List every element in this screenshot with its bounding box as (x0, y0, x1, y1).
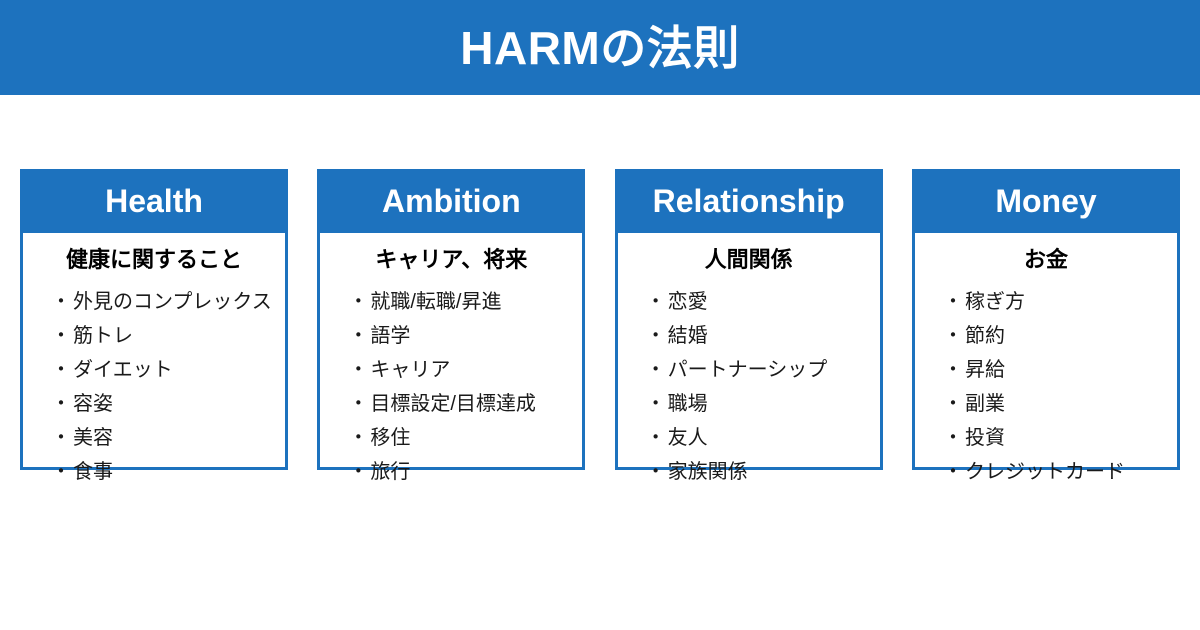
list-item: ・家族関係 (646, 455, 880, 489)
bullet-icon: ・ (646, 421, 666, 455)
list-item: ・キャリア (348, 353, 582, 387)
bullet-icon: ・ (943, 353, 963, 387)
list-item-label: 投資 (965, 421, 1005, 455)
bullet-icon: ・ (51, 455, 71, 489)
card-relationship: Relationship 人間関係 ・恋愛 ・結婚 ・パートナーシップ ・職場 … (615, 169, 883, 470)
list-item-label: 旅行 (370, 455, 410, 489)
list-item-label: 副業 (965, 387, 1005, 421)
bullet-icon: ・ (646, 319, 666, 353)
list-item-label: 恋愛 (668, 285, 708, 319)
list-item-label: 節約 (965, 319, 1005, 353)
bullet-icon: ・ (51, 285, 71, 319)
list-item-label: ダイエット (73, 353, 173, 387)
bullet-icon: ・ (646, 353, 666, 387)
bullet-icon: ・ (943, 387, 963, 421)
card-subtitle-health: 健康に関すること (23, 247, 285, 273)
list-item: ・恋愛 (646, 285, 880, 319)
list-item-label: 稼ぎ方 (965, 285, 1025, 319)
card-list-health: ・外見のコンプレックス ・筋トレ ・ダイエット ・容姿 ・美容 ・食事 (23, 285, 285, 489)
card-title-health: Health (105, 185, 203, 217)
list-item-label: 語学 (370, 319, 410, 353)
list-item-label: 就職/転職/昇進 (370, 285, 501, 319)
bullet-icon: ・ (348, 319, 368, 353)
bullet-icon: ・ (943, 421, 963, 455)
bullet-icon: ・ (348, 455, 368, 489)
card-list-money: ・稼ぎ方 ・節約 ・昇給 ・副業 ・投資 ・クレジットカード (915, 285, 1177, 489)
list-item-label: 筋トレ (73, 319, 133, 353)
list-item: ・パートナーシップ (646, 353, 880, 387)
list-item: ・目標設定/目標達成 (348, 387, 582, 421)
card-title-money: Money (995, 185, 1096, 217)
list-item: ・節約 (943, 319, 1177, 353)
card-money: Money お金 ・稼ぎ方 ・節約 ・昇給 ・副業 ・投資 ・クレジットカード (912, 169, 1180, 470)
card-ambition: Ambition キャリア、将来 ・就職/転職/昇進 ・語学 ・キャリア ・目標… (317, 169, 585, 470)
bullet-icon: ・ (943, 455, 963, 489)
card-health: Health 健康に関すること ・外見のコンプレックス ・筋トレ ・ダイエット … (20, 169, 288, 470)
list-item: ・投資 (943, 421, 1177, 455)
card-subtitle-ambition: キャリア、将来 (320, 247, 582, 273)
list-item: ・就職/転職/昇進 (348, 285, 582, 319)
bullet-icon: ・ (646, 285, 666, 319)
bullet-icon: ・ (51, 319, 71, 353)
bullet-icon: ・ (51, 353, 71, 387)
card-subtitle-money: お金 (915, 247, 1177, 273)
list-item-label: 外見のコンプレックス (73, 285, 272, 319)
card-title-relationship: Relationship (653, 185, 845, 217)
card-header-relationship: Relationship (615, 169, 883, 233)
list-item-label: 容姿 (73, 387, 113, 421)
list-item-label: 目標設定/目標達成 (370, 387, 536, 421)
card-body-ambition: キャリア、将来 ・就職/転職/昇進 ・語学 ・キャリア ・目標設定/目標達成 ・… (317, 233, 585, 470)
list-item-label: 移住 (370, 421, 410, 455)
list-item-label: 美容 (73, 421, 113, 455)
list-item: ・稼ぎ方 (943, 285, 1177, 319)
list-item-label: 昇給 (965, 353, 1005, 387)
list-item: ・クレジットカード (943, 455, 1177, 489)
bullet-icon: ・ (51, 421, 71, 455)
card-subtitle-relationship: 人間関係 (618, 247, 880, 273)
list-item: ・副業 (943, 387, 1177, 421)
card-list-ambition: ・就職/転職/昇進 ・語学 ・キャリア ・目標設定/目標達成 ・移住 ・旅行 (320, 285, 582, 489)
list-item: ・容姿 (51, 387, 285, 421)
harm-cards-row: Health 健康に関すること ・外見のコンプレックス ・筋トレ ・ダイエット … (0, 169, 1200, 470)
card-header-health: Health (20, 169, 288, 233)
bullet-icon: ・ (943, 319, 963, 353)
bullet-icon: ・ (646, 455, 666, 489)
list-item: ・移住 (348, 421, 582, 455)
list-item: ・友人 (646, 421, 880, 455)
list-item-label: 職場 (668, 387, 708, 421)
list-item: ・昇給 (943, 353, 1177, 387)
card-body-relationship: 人間関係 ・恋愛 ・結婚 ・パートナーシップ ・職場 ・友人 ・家族関係 (615, 233, 883, 470)
list-item: ・ダイエット (51, 353, 285, 387)
list-item: ・筋トレ (51, 319, 285, 353)
card-header-money: Money (912, 169, 1180, 233)
bullet-icon: ・ (348, 387, 368, 421)
list-item-label: キャリア (370, 353, 450, 387)
page-title: HARMの法則 (460, 25, 739, 71)
list-item: ・美容 (51, 421, 285, 455)
bullet-icon: ・ (348, 421, 368, 455)
header-banner: HARMの法則 (0, 0, 1200, 95)
bullet-icon: ・ (943, 285, 963, 319)
list-item-label: パートナーシップ (668, 353, 828, 387)
list-item-label: 友人 (668, 421, 708, 455)
list-item-label: 結婚 (668, 319, 708, 353)
bullet-icon: ・ (646, 387, 666, 421)
list-item: ・結婚 (646, 319, 880, 353)
bullet-icon: ・ (348, 285, 368, 319)
card-body-health: 健康に関すること ・外見のコンプレックス ・筋トレ ・ダイエット ・容姿 ・美容… (20, 233, 288, 470)
list-item: ・旅行 (348, 455, 582, 489)
list-item: ・外見のコンプレックス (51, 285, 285, 319)
card-header-ambition: Ambition (317, 169, 585, 233)
list-item-label: クレジットカード (965, 455, 1125, 489)
bullet-icon: ・ (348, 353, 368, 387)
list-item: ・語学 (348, 319, 582, 353)
bullet-icon: ・ (51, 387, 71, 421)
list-item-label: 家族関係 (668, 455, 748, 489)
list-item: ・食事 (51, 455, 285, 489)
card-body-money: お金 ・稼ぎ方 ・節約 ・昇給 ・副業 ・投資 ・クレジットカード (912, 233, 1180, 470)
card-list-relationship: ・恋愛 ・結婚 ・パートナーシップ ・職場 ・友人 ・家族関係 (618, 285, 880, 489)
list-item: ・職場 (646, 387, 880, 421)
card-title-ambition: Ambition (382, 185, 521, 217)
list-item-label: 食事 (73, 455, 113, 489)
